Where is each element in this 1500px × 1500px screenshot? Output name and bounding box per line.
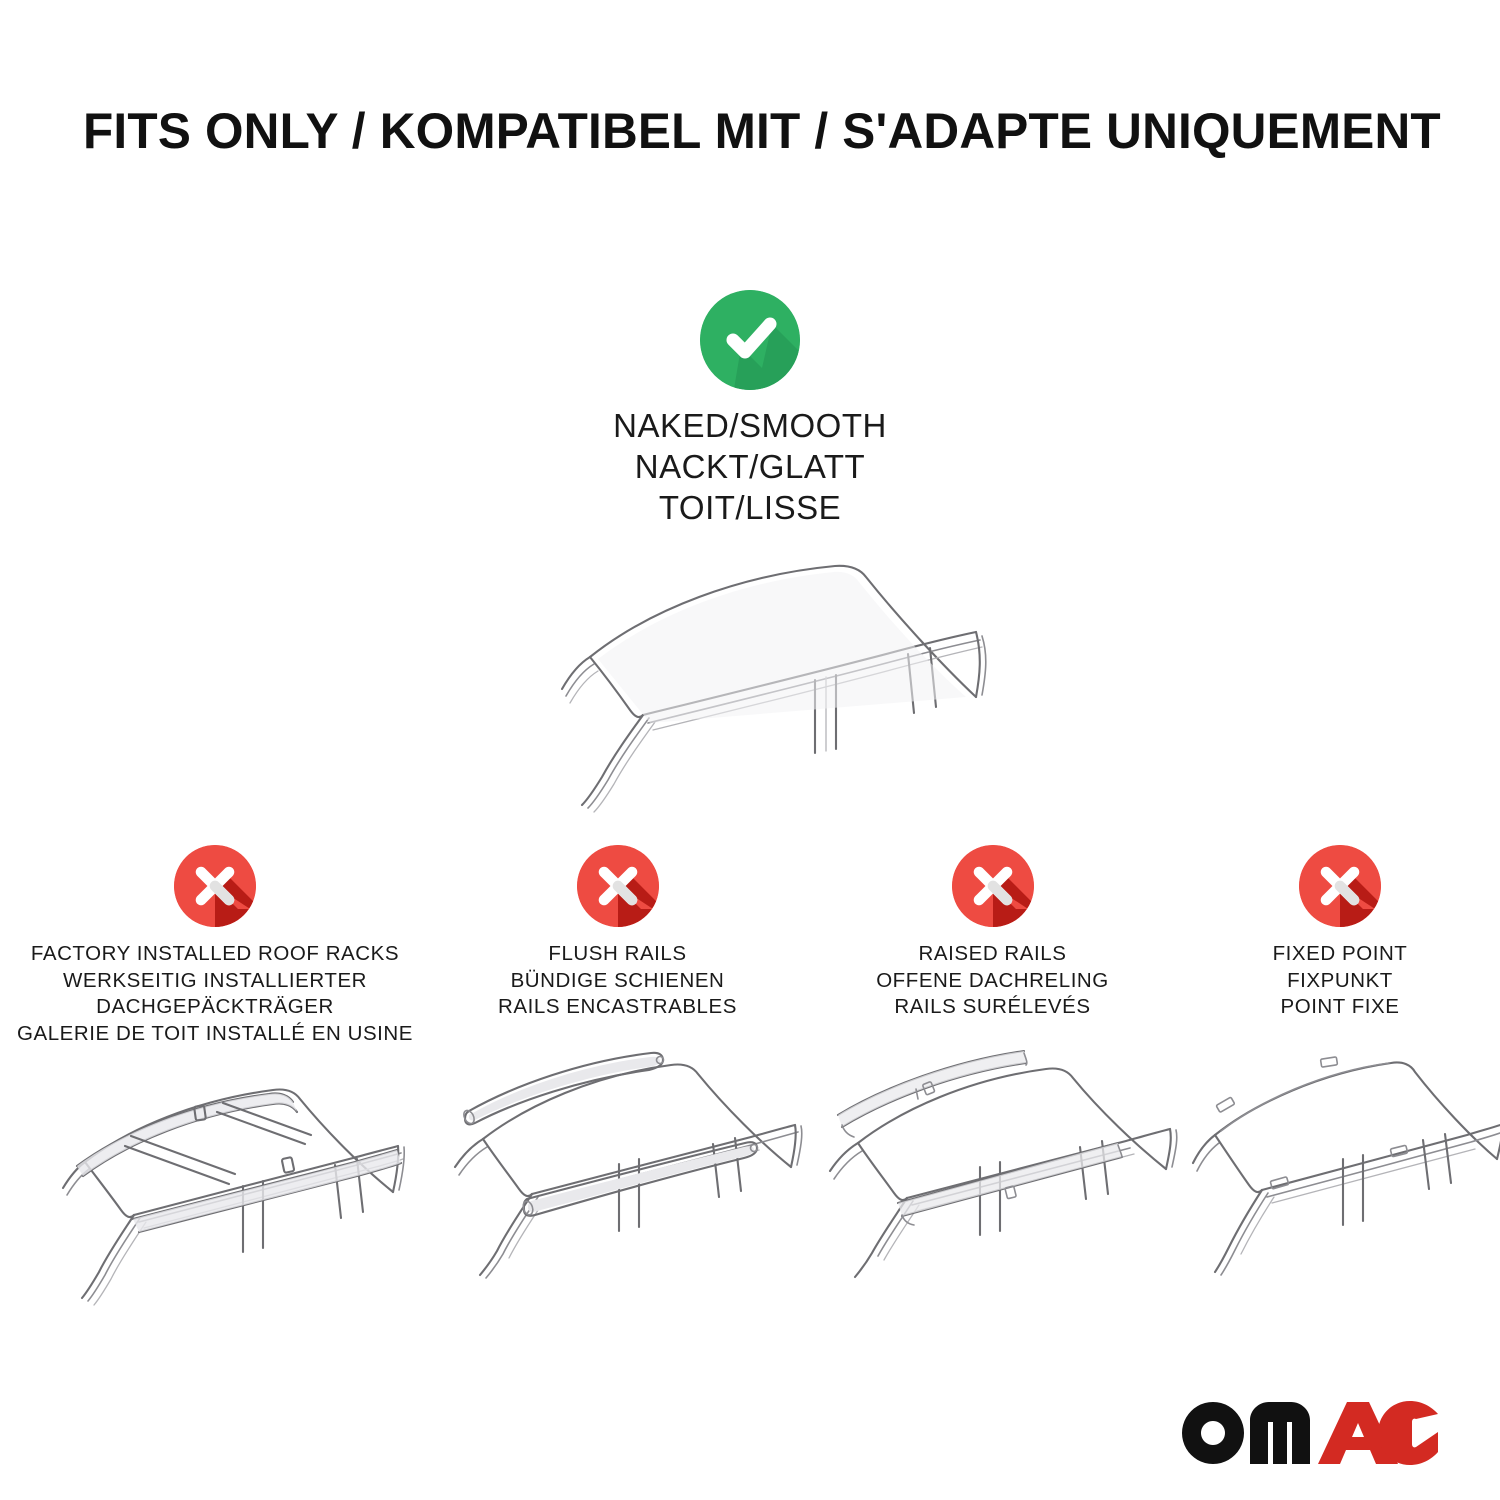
logo-letter-m [1250, 1402, 1310, 1464]
caption-line-en: FACTORY INSTALLED ROOF RACKS [17, 941, 413, 968]
incompatible-item-factory-racks: FACTORY INSTALLED ROOF RACKS WERKSEITIG … [0, 845, 430, 1306]
caption-line-en: RAISED RAILS [876, 941, 1109, 968]
logo-letter-c [1378, 1401, 1438, 1465]
incompatible-item-flush-rails: FLUSH RAILS BÜNDIGE SCHIENEN RAILS ENCAS… [430, 845, 805, 1279]
caption-line-de-2: DACHGEPÄCKTRÄGER [17, 994, 413, 1021]
incompatible-section: FACTORY INSTALLED ROOF RACKS WERKSEITIG … [0, 845, 1500, 1306]
incompatible-item-raised-rails: RAISED RAILS OFFENE DACHRELING RAILS SUR… [805, 845, 1180, 1279]
incompatible-caption: FACTORY INSTALLED ROOF RACKS WERKSEITIG … [17, 941, 413, 1048]
x-circle-icon [952, 845, 1034, 927]
omac-logo [1180, 1398, 1440, 1468]
caption-line-de: BÜNDIGE SCHIENEN [498, 968, 737, 995]
caption-line-en: FLUSH RAILS [498, 941, 737, 968]
caption-line-fr: POINT FIXE [1273, 994, 1408, 1021]
x-circle-icon [1299, 845, 1381, 927]
check-circle-icon [700, 290, 800, 390]
caption-line-fr: RAILS SURÉLEVÉS [876, 994, 1109, 1021]
compatible-section: NAKED/SMOOTH NACKT/GLATT TOIT/LISSE [0, 290, 1500, 817]
fitment-infographic: FITS ONLY / KOMPATIBEL MIT / S'ADAPTE UN… [0, 0, 1500, 1500]
caption-line-de-1: WERKSEITIG INSTALLIERTER [17, 968, 413, 995]
compatible-caption: NAKED/SMOOTH NACKT/GLATT TOIT/LISSE [613, 406, 887, 529]
incompatible-caption: FIXED POINT FIXPUNKT POINT FIXE [1273, 941, 1408, 1021]
caption-line-en: FIXED POINT [1273, 941, 1408, 968]
x-circle-icon [577, 845, 659, 927]
car-roof-flush-rails-illustration [423, 1039, 813, 1279]
incompatible-caption: FLUSH RAILS BÜNDIGE SCHIENEN RAILS ENCAS… [498, 941, 737, 1021]
caption-line-fr: RAILS ENCASTRABLES [498, 994, 737, 1021]
car-roof-raised-rails-illustration [798, 1039, 1188, 1279]
page-title: FITS ONLY / KOMPATIBEL MIT / S'ADAPTE UN… [83, 104, 1410, 159]
incompatible-caption: RAISED RAILS OFFENE DACHRELING RAILS SUR… [876, 941, 1109, 1021]
car-roof-naked-smooth-illustration [490, 537, 1010, 817]
car-roof-fixed-point-illustration [1175, 1039, 1500, 1279]
caption-line-fr: GALERIE DE TOIT INSTALLÉ EN USINE [17, 1021, 413, 1048]
compatible-caption-line-en: NAKED/SMOOTH [613, 406, 887, 447]
car-roof-factory-racks-illustration [5, 1066, 425, 1306]
compatible-caption-line-de: NACKT/GLATT [613, 447, 887, 488]
caption-line-de: OFFENE DACHRELING [876, 968, 1109, 995]
compatible-caption-line-fr: TOIT/LISSE [613, 488, 887, 529]
logo-letter-o [1182, 1402, 1244, 1464]
caption-line-de: FIXPUNKT [1273, 968, 1408, 995]
incompatible-item-fixed-point: FIXED POINT FIXPUNKT POINT FIXE [1180, 845, 1500, 1279]
x-circle-icon [174, 845, 256, 927]
